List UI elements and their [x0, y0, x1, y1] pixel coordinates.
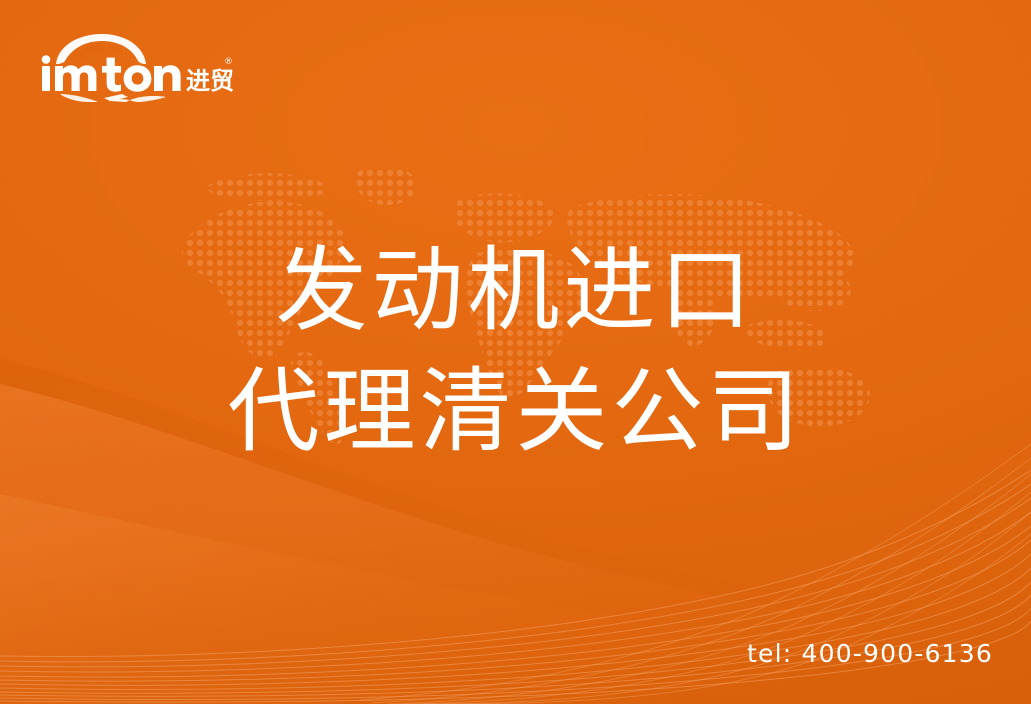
globe-arc-icon: [56, 34, 146, 64]
brand-logo[interactable]: 进贸通 ®: [34, 30, 234, 102]
logo-chinese-mark: 进贸通: [186, 67, 234, 95]
headline-line-1: 发动机进口: [0, 238, 1031, 345]
promo-banner: 进贸通 ® 发动机进口 代理清关公司 tel: 400-900-6136: [0, 0, 1031, 704]
contact-phone[interactable]: tel: 400-900-6136: [747, 639, 993, 668]
headline-line-2: 代理清关公司: [0, 359, 1031, 466]
trademark-symbol: ®: [224, 57, 233, 67]
plane-swoosh-icon: [60, 94, 166, 102]
headline: 发动机进口 代理清关公司: [0, 238, 1031, 465]
logo-chinese-text: 进贸通: [186, 67, 234, 95]
